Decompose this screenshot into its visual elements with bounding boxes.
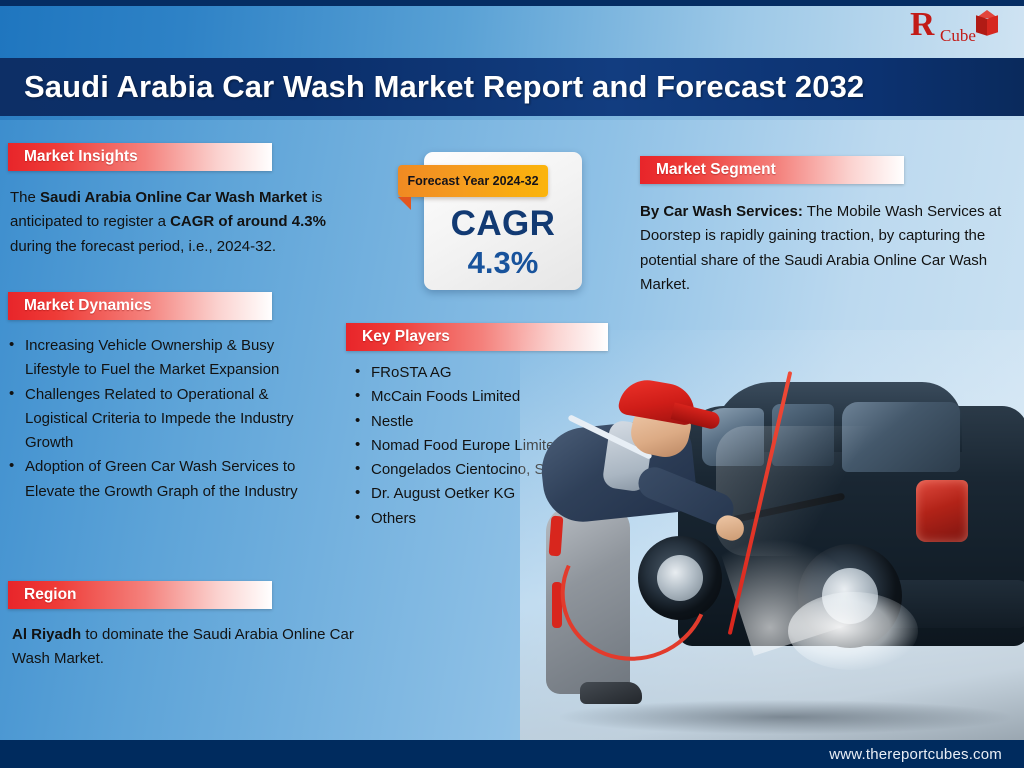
ribbon-fold-shape xyxy=(398,197,411,210)
region-text: Al Riyadh to dominate the Saudi Arabia O… xyxy=(12,623,357,672)
market-dynamics-list: Increasing Vehicle Ownership & Busy Life… xyxy=(6,334,306,504)
list-item: Adoption of Green Car Wash Services to E… xyxy=(6,455,306,504)
key-players-heading: Key Players xyxy=(346,328,450,346)
ground-shadow xyxy=(560,700,1010,734)
cagr-metric-label: CAGR xyxy=(424,204,582,244)
market-insights-heading: Market Insights xyxy=(8,148,138,166)
section-header-region: Region xyxy=(8,581,272,609)
region-heading: Region xyxy=(8,586,77,604)
section-header-market-dynamics: Market Dynamics xyxy=(8,292,272,320)
title-underglow xyxy=(0,116,1024,120)
top-gradient-band xyxy=(0,6,1024,58)
section-header-market-segment: Market Segment xyxy=(640,156,904,184)
reportcube-logo[interactable]: Я Cube xyxy=(904,6,1008,54)
market-dynamics-heading: Market Dynamics xyxy=(8,297,152,315)
logo-cube-word: Cube xyxy=(940,26,976,46)
list-item: Increasing Vehicle Ownership & Busy Life… xyxy=(6,334,306,383)
title-bar: Saudi Arabia Car Wash Market Report and … xyxy=(0,58,1024,116)
section-header-market-insights: Market Insights xyxy=(8,143,272,171)
market-insights-text: The Saudi Arabia Online Car Wash Market … xyxy=(10,186,350,259)
infographic-canvas: Я Cube Saudi Arabia Car Wash Market Repo… xyxy=(0,0,1024,768)
footer-website[interactable]: www.thereportcubes.com xyxy=(829,746,1024,763)
logo-cube-icon-left xyxy=(976,15,987,36)
cagr-card: Forecast Year 2024-32 CAGR 4.3% xyxy=(424,152,582,290)
market-segment-text: By Car Wash Services: The Mobile Wash Se… xyxy=(640,200,1008,297)
list-item: Challenges Related to Operational & Logi… xyxy=(6,383,306,456)
forecast-year-label: Forecast Year 2024-32 xyxy=(407,174,538,188)
market-segment-heading: Market Segment xyxy=(640,161,776,179)
page-title: Saudi Arabia Car Wash Market Report and … xyxy=(0,69,864,105)
forecast-year-ribbon: Forecast Year 2024-32 xyxy=(398,165,548,197)
car-taillight xyxy=(916,480,968,542)
logo-cube-icon-right xyxy=(987,15,998,36)
worker-washing-car-photo xyxy=(520,330,1024,742)
cagr-metric-value: 4.3% xyxy=(424,245,582,281)
footer-bar: www.thereportcubes.com xyxy=(0,740,1024,768)
logo-r-glyph: Я xyxy=(910,8,935,42)
